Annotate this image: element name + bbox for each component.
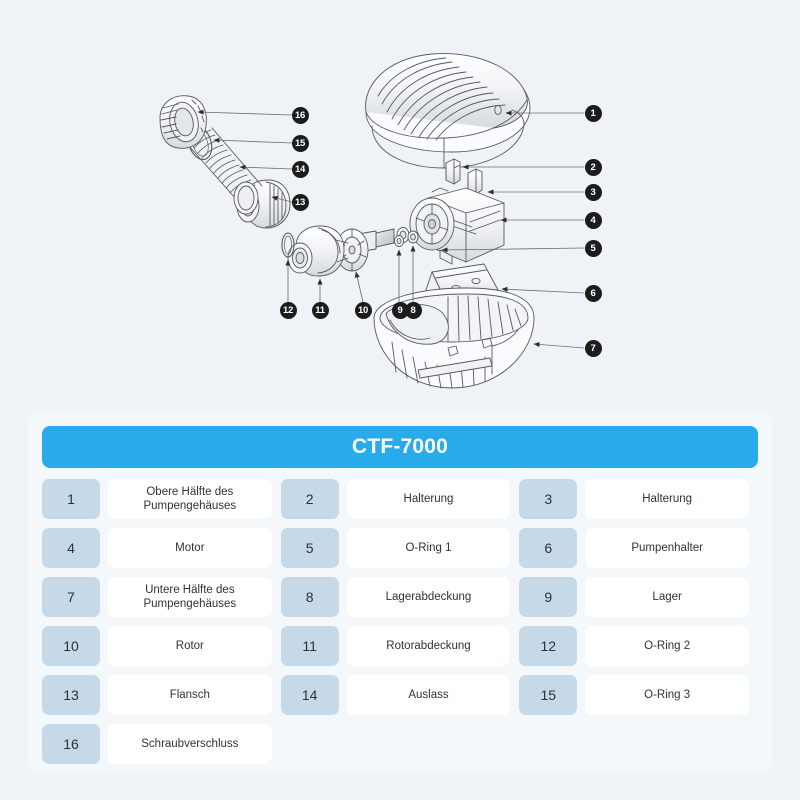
part-label: Rotor — [108, 626, 272, 666]
part-label: O-Ring 1 — [347, 528, 511, 568]
table-cell-part-2: 2Halterung — [281, 479, 520, 519]
table-row: 10Rotor11Rotorabdeckung12O-Ring 2 — [42, 626, 758, 666]
callout-marker-12: 12 — [280, 302, 297, 319]
part-label: O-Ring 2 — [585, 626, 749, 666]
exploded-diagram-area: 12345678910111213141516 — [0, 0, 800, 412]
callout-marker-9: 9 — [392, 302, 409, 319]
callout-marker-1: 1 — [585, 105, 602, 122]
part-label: Auslass — [347, 675, 511, 715]
table-cell-part-11: 11Rotorabdeckung — [281, 626, 520, 666]
part-number: 9 — [519, 577, 577, 617]
table-cell-part-15: 15O-Ring 3 — [519, 675, 758, 715]
table-cell-part-14: 14Auslass — [281, 675, 520, 715]
part-bearing-shape — [395, 236, 404, 247]
table-cell-part-10: 10Rotor — [42, 626, 281, 666]
callout-marker-10: 10 — [355, 302, 372, 319]
part-number: 5 — [281, 528, 339, 568]
parts-list-panel: CTF-7000 1Obere Hälfte des Pumpengehäuse… — [28, 412, 772, 772]
parts-table: 1Obere Hälfte des Pumpengehäuses2Halteru… — [42, 479, 758, 764]
part-label: Lager — [585, 577, 749, 617]
part-label: Rotorabdeckung — [347, 626, 511, 666]
part-label: Lagerabdeckung — [347, 577, 511, 617]
part-number: 6 — [519, 528, 577, 568]
part-bearing-cover-shape — [408, 231, 418, 243]
callout-marker-4: 4 — [585, 212, 602, 229]
callout-marker-15: 15 — [292, 135, 309, 152]
callout-marker-7: 7 — [585, 340, 602, 357]
part-number: 8 — [281, 577, 339, 617]
part-number: 16 — [42, 724, 100, 764]
callout-marker-3: 3 — [585, 184, 602, 201]
table-cell-part-13: 13Flansch — [42, 675, 281, 715]
table-row: 1Obere Hälfte des Pumpengehäuses2Halteru… — [42, 479, 758, 519]
part-number: 4 — [42, 528, 100, 568]
table-cell-part-8: 8Lagerabdeckung — [281, 577, 520, 617]
part-label: Untere Hälfte des Pumpengehäuses — [108, 577, 272, 617]
table-cell-part-4: 4Motor — [42, 528, 281, 568]
callout-marker-2: 2 — [585, 159, 602, 176]
part-label: O-Ring 3 — [585, 675, 749, 715]
table-row: 13Flansch14Auslass15O-Ring 3 — [42, 675, 758, 715]
callout-marker-14: 14 — [292, 161, 309, 178]
part-label: Motor — [108, 528, 272, 568]
table-row: 4Motor5O-Ring 16Pumpenhalter — [42, 528, 758, 568]
callout-marker-11: 11 — [312, 302, 329, 319]
table-cell-part-16: 16Schraubverschluss — [42, 724, 281, 764]
part-number: 10 — [42, 626, 100, 666]
part-number: 1 — [42, 479, 100, 519]
part-number: 3 — [519, 479, 577, 519]
part-rotor-shape — [336, 229, 394, 271]
part-bracket-2-shape — [446, 159, 460, 184]
part-number: 14 — [281, 675, 339, 715]
part-label: Halterung — [347, 479, 511, 519]
part-label: Flansch — [108, 675, 272, 715]
part-number: 7 — [42, 577, 100, 617]
callout-marker-5: 5 — [585, 240, 602, 257]
exploded-parts-drawing — [0, 0, 800, 412]
part-number: 2 — [281, 479, 339, 519]
part-number: 15 — [519, 675, 577, 715]
part-label: Obere Hälfte des Pumpengehäuses — [108, 479, 272, 519]
part-label: Halterung — [585, 479, 749, 519]
table-cell-part-6: 6Pumpenhalter — [519, 528, 758, 568]
table-cell-part-9: 9Lager — [519, 577, 758, 617]
part-number: 13 — [42, 675, 100, 715]
table-cell-part-12: 12O-Ring 2 — [519, 626, 758, 666]
part-upper-housing-shape — [366, 54, 530, 168]
part-motor-shape — [410, 188, 504, 264]
table-cell-part-5: 5O-Ring 1 — [281, 528, 520, 568]
table-row: 7Untere Hälfte des Pumpengehäuses8Lagera… — [42, 577, 758, 617]
table-cell-part-7: 7Untere Hälfte des Pumpengehäuses — [42, 577, 281, 617]
table-row: 16Schraubverschluss — [42, 724, 758, 764]
callout-marker-6: 6 — [585, 285, 602, 302]
part-label: Schraubverschluss — [108, 724, 272, 764]
part-oring-2-shape — [282, 233, 294, 257]
part-number: 11 — [281, 626, 339, 666]
table-cell-part-3: 3Halterung — [519, 479, 758, 519]
part-label: Pumpenhalter — [585, 528, 749, 568]
part-screw-cap-shape — [160, 96, 206, 149]
callout-marker-16: 16 — [292, 107, 309, 124]
table-cell-part-1: 1Obere Hälfte des Pumpengehäuses — [42, 479, 281, 519]
part-rotor-cover-shape — [288, 226, 348, 276]
callout-marker-13: 13 — [292, 194, 309, 211]
page-title: CTF-7000 — [42, 426, 758, 468]
part-number: 12 — [519, 626, 577, 666]
